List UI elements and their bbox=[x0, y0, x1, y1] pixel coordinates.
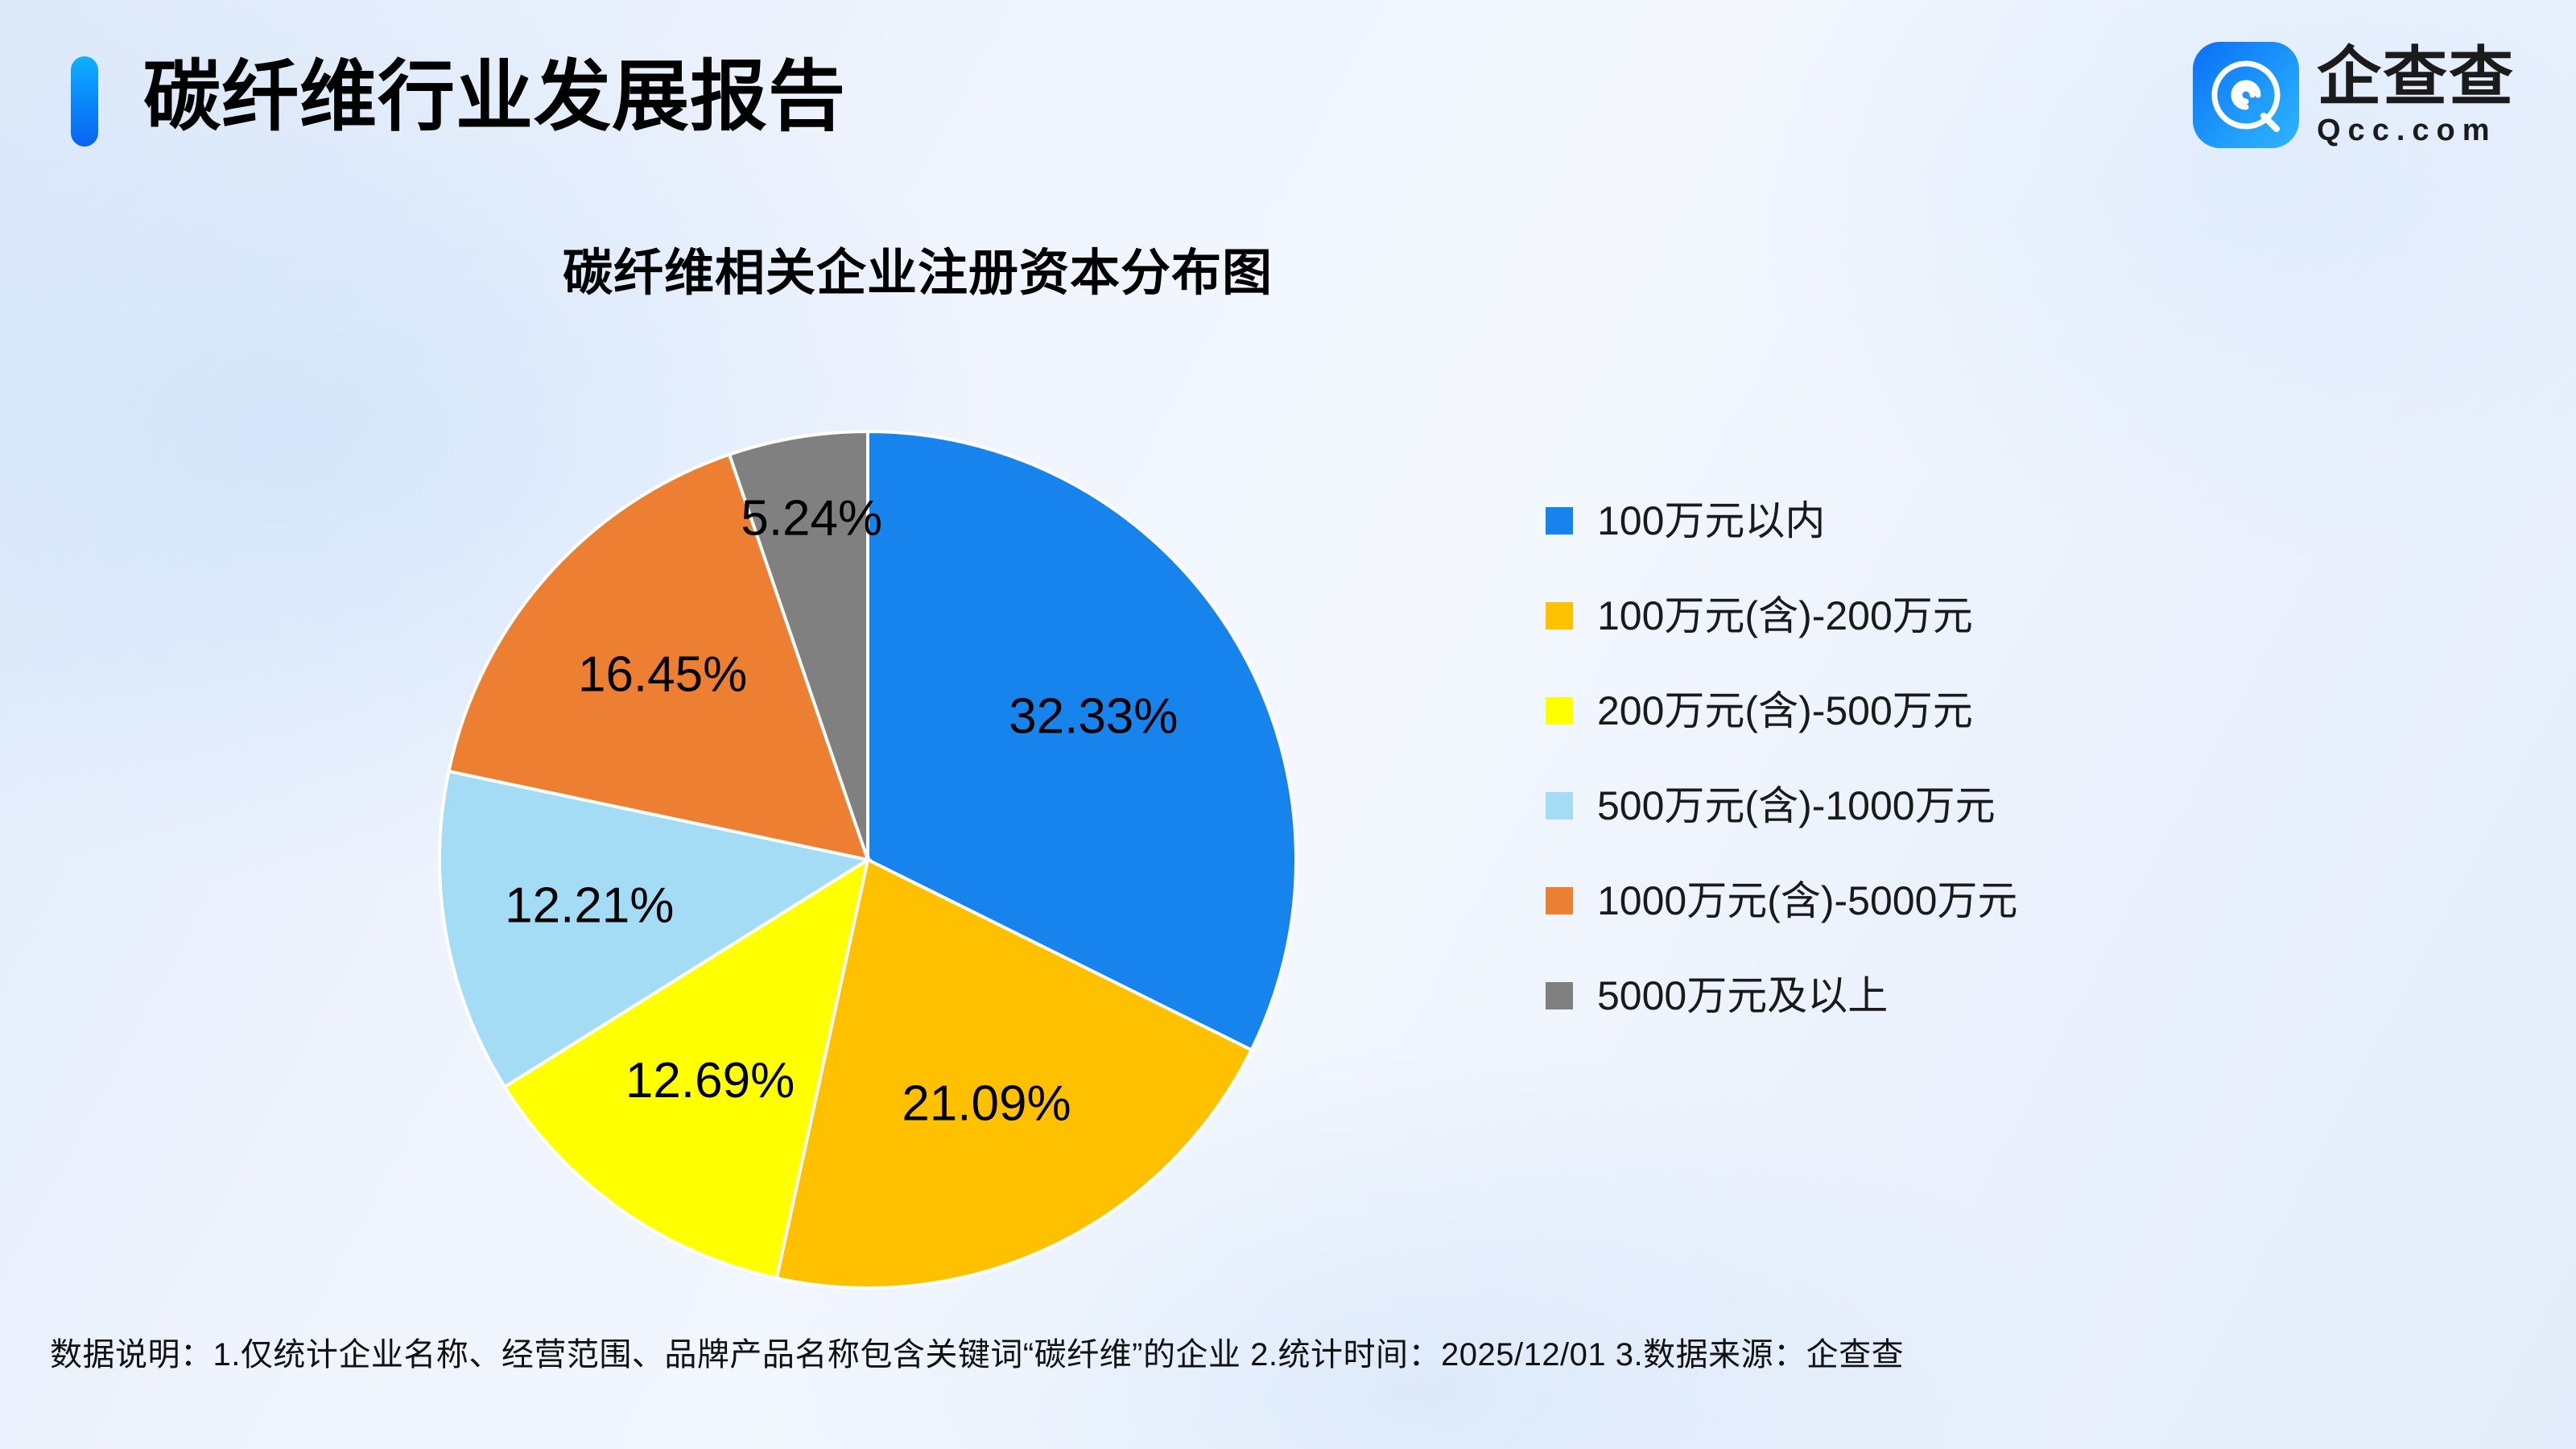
legend-swatch bbox=[1546, 887, 1573, 914]
legend-label: 200万元(含)-500万元 bbox=[1597, 688, 1973, 733]
report-page: 碳纤维行业发展报告 企查查 Qcc.com 碳纤维相关企业注册资本分布图 bbox=[0, 0, 2576, 1449]
chart-legend: 100万元以内100万元(含)-200万元200万元(含)-500万元500万元… bbox=[1546, 473, 2431, 1043]
pie-slice-label: 16.45% bbox=[578, 647, 747, 703]
legend-item[interactable]: 1000万元(含)-5000万元 bbox=[1546, 853, 2431, 948]
brand-name-cn: 企查查 bbox=[2317, 43, 2515, 112]
legend-swatch bbox=[1546, 602, 1573, 630]
pie-slice-label: 21.09% bbox=[902, 1075, 1071, 1131]
brand-wordmark: 企查查 Qcc.com bbox=[2317, 43, 2515, 147]
pie-slice-label: 5.24% bbox=[741, 491, 882, 547]
legend-label: 5000万元及以上 bbox=[1597, 973, 1888, 1018]
legend-item[interactable]: 100万元(含)-200万元 bbox=[1546, 568, 2431, 663]
data-note: 数据说明：1.仅统计企业名称、经营范围、品牌产品名称包含关键词“碳纤维”的企业 … bbox=[50, 1328, 1904, 1375]
chart-title: 碳纤维相关企业注册资本分布图 bbox=[0, 232, 1835, 304]
pie-chart: 32.33%21.09%12.69%12.21%16.45%5.24% bbox=[433, 425, 1302, 1294]
legend-label: 500万元(含)-1000万元 bbox=[1597, 783, 1996, 828]
qcc-spiral-q-icon bbox=[2193, 42, 2299, 148]
legend-label: 1000万元(含)-5000万元 bbox=[1597, 878, 2017, 923]
legend-item[interactable]: 200万元(含)-500万元 bbox=[1546, 663, 2431, 758]
legend-item[interactable]: 500万元(含)-1000万元 bbox=[1546, 758, 2431, 853]
page-header: 碳纤维行业发展报告 企查查 Qcc.com bbox=[0, 0, 2576, 201]
pie-slice-label: 12.21% bbox=[505, 878, 674, 934]
legend-swatch bbox=[1546, 507, 1573, 535]
legend-swatch bbox=[1546, 697, 1573, 724]
pie-slice-label: 32.33% bbox=[1009, 689, 1178, 745]
pie-chart-svg: 32.33%21.09%12.69%12.21%16.45%5.24% bbox=[433, 425, 1302, 1294]
legend-swatch bbox=[1546, 792, 1573, 819]
brand-logo[interactable]: 企查查 Qcc.com bbox=[2193, 42, 2515, 148]
brand-name-en: Qcc.com bbox=[2317, 114, 2497, 147]
legend-item[interactable]: 100万元以内 bbox=[1546, 473, 2431, 568]
legend-swatch bbox=[1546, 982, 1573, 1009]
page-title: 碳纤维行业发展报告 bbox=[143, 50, 846, 145]
legend-label: 100万元以内 bbox=[1597, 498, 1825, 543]
title-accent-bar bbox=[71, 56, 98, 147]
pie-slice-label: 12.69% bbox=[625, 1053, 795, 1108]
legend-label: 100万元(含)-200万元 bbox=[1597, 593, 1973, 638]
legend-item[interactable]: 5000万元及以上 bbox=[1546, 948, 2431, 1043]
